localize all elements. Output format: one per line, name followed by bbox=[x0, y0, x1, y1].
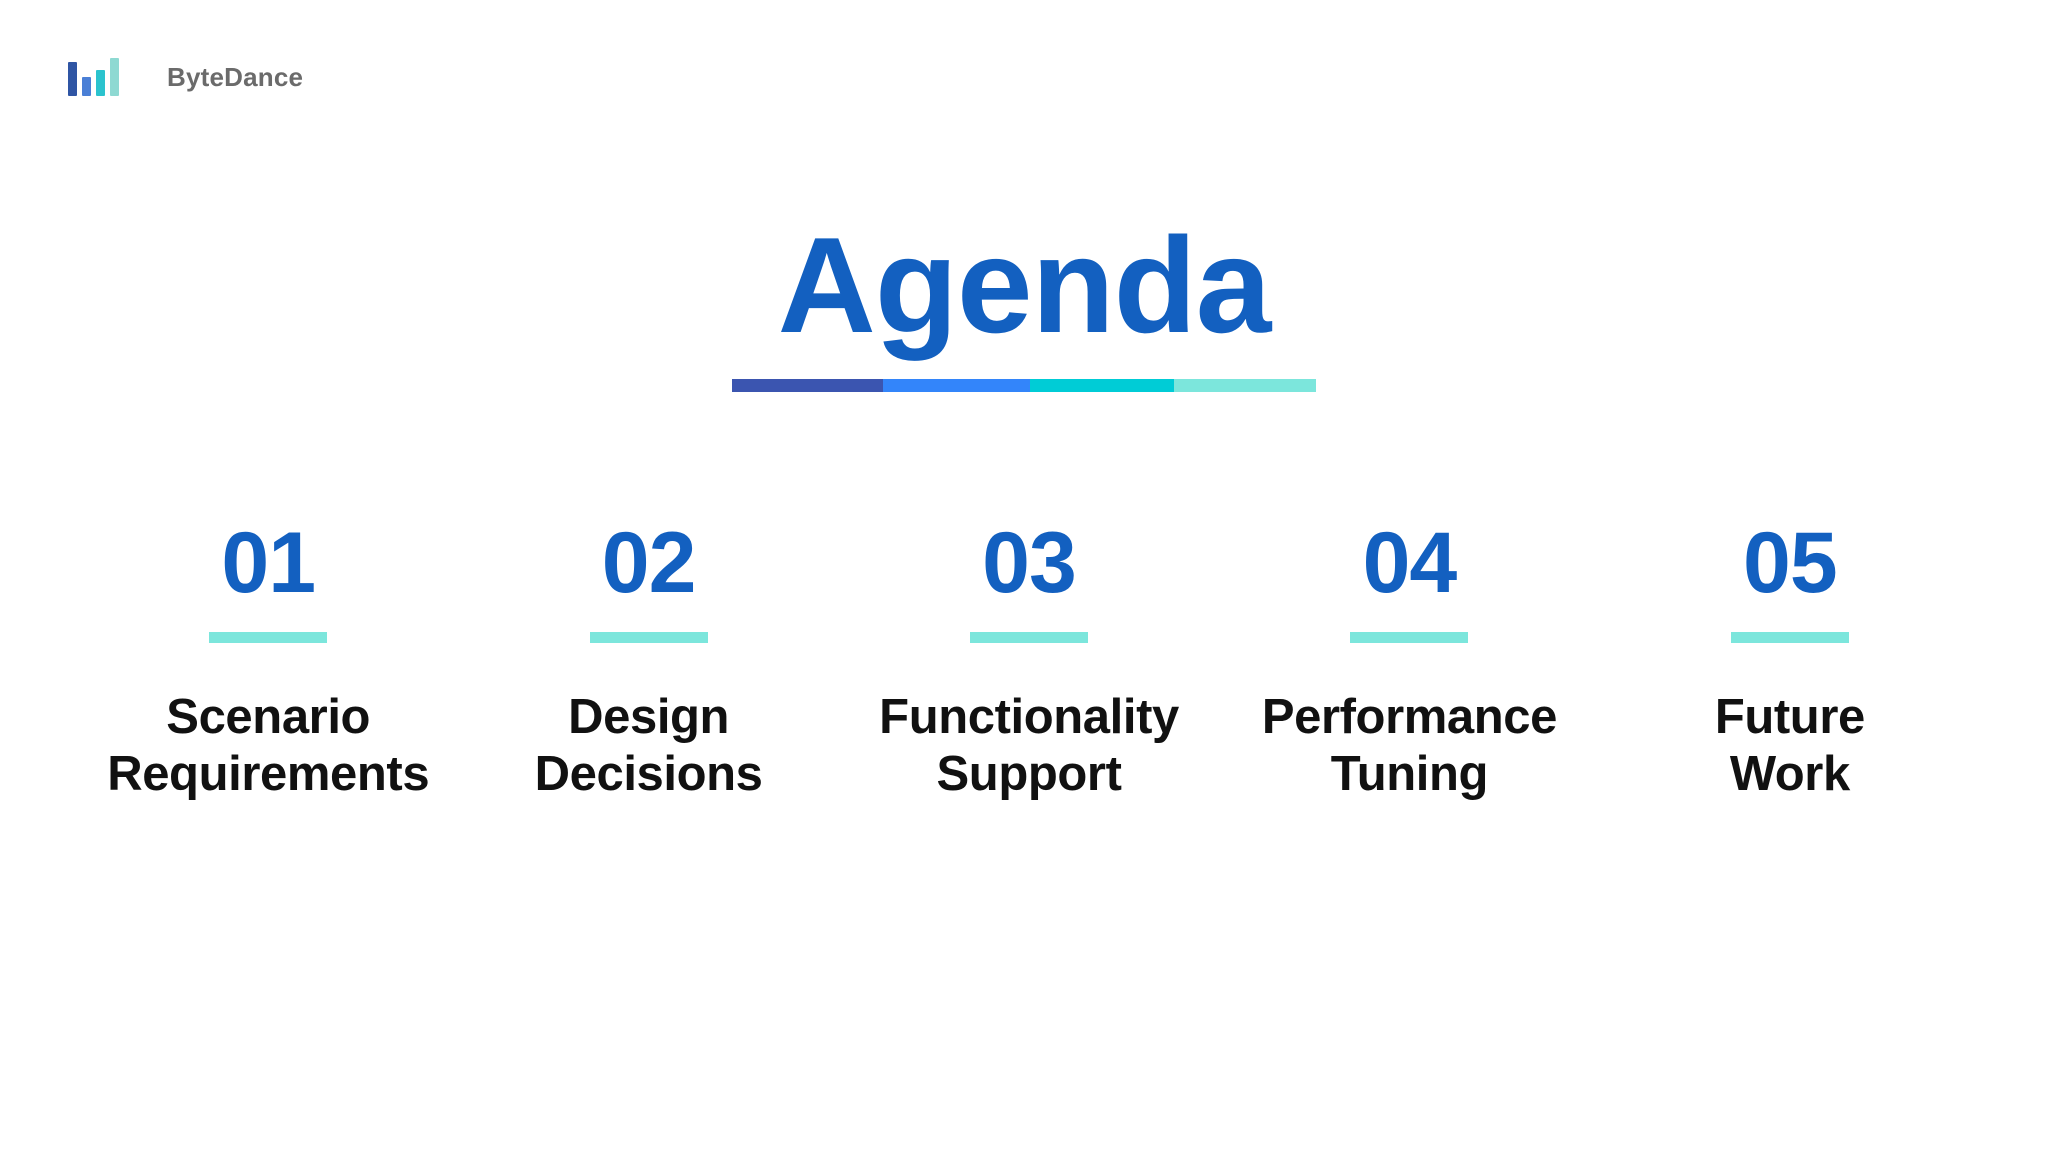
agenda-item-label-line-2: Tuning bbox=[1225, 746, 1593, 803]
agenda-item-label: Scenario Requirements bbox=[84, 689, 452, 803]
logo-bar-dark-blue bbox=[68, 62, 77, 96]
agenda-item-underline bbox=[1731, 632, 1849, 643]
rule-segment-indigo bbox=[732, 379, 883, 392]
agenda-item-number: 04 bbox=[1225, 520, 1593, 606]
title-block: Agenda bbox=[0, 216, 2048, 392]
agenda-item-number: 02 bbox=[464, 520, 832, 606]
agenda-item-label-line-1: Future bbox=[1606, 689, 1974, 746]
agenda-item-label-line-2: Requirements bbox=[84, 746, 452, 803]
agenda-item-underline bbox=[590, 632, 708, 643]
agenda-item-04[interactable]: 04 Performance Tuning bbox=[1219, 520, 1599, 803]
agenda-item-underline bbox=[209, 632, 327, 643]
rule-segment-blue bbox=[883, 379, 1030, 392]
agenda-slide: ByteDance Agenda 01 Scenario Requirement… bbox=[0, 0, 2048, 1153]
rule-segment-mint bbox=[1174, 379, 1316, 392]
agenda-item-02[interactable]: 02 Design Decisions bbox=[458, 520, 838, 803]
agenda-item-list: 01 Scenario Requirements 02 Design Decis… bbox=[78, 520, 1980, 803]
agenda-item-label-line-2: Decisions bbox=[464, 746, 832, 803]
bytedance-bar-logo-icon bbox=[68, 58, 119, 96]
logo-bar-cyan bbox=[96, 70, 105, 96]
agenda-item-underline bbox=[970, 632, 1088, 643]
agenda-item-label-line-1: Functionality bbox=[845, 689, 1213, 746]
agenda-item-label: Future Work bbox=[1606, 689, 1974, 803]
agenda-item-label: Performance Tuning bbox=[1225, 689, 1593, 803]
agenda-item-label-line-1: Design bbox=[464, 689, 832, 746]
agenda-item-05[interactable]: 05 Future Work bbox=[1600, 520, 1980, 803]
rule-segment-cyan bbox=[1030, 379, 1174, 392]
page-title: Agenda bbox=[0, 216, 2048, 355]
agenda-item-03[interactable]: 03 Functionality Support bbox=[839, 520, 1219, 803]
agenda-item-number: 03 bbox=[845, 520, 1213, 606]
brand-logo: ByteDance bbox=[68, 58, 303, 96]
agenda-item-number: 01 bbox=[84, 520, 452, 606]
agenda-item-label: Design Decisions bbox=[464, 689, 832, 803]
brand-name: ByteDance bbox=[167, 62, 303, 93]
agenda-item-underline bbox=[1350, 632, 1468, 643]
title-underline-bar bbox=[732, 379, 1316, 392]
agenda-item-label-line-1: Performance bbox=[1225, 689, 1593, 746]
logo-bar-mint bbox=[110, 58, 119, 96]
agenda-item-label-line-2: Work bbox=[1606, 746, 1974, 803]
agenda-item-01[interactable]: 01 Scenario Requirements bbox=[78, 520, 458, 803]
logo-bar-blue bbox=[82, 77, 91, 96]
agenda-item-label: Functionality Support bbox=[845, 689, 1213, 803]
agenda-item-number: 05 bbox=[1606, 520, 1974, 606]
agenda-item-label-line-1: Scenario bbox=[84, 689, 452, 746]
agenda-item-label-line-2: Support bbox=[845, 746, 1213, 803]
